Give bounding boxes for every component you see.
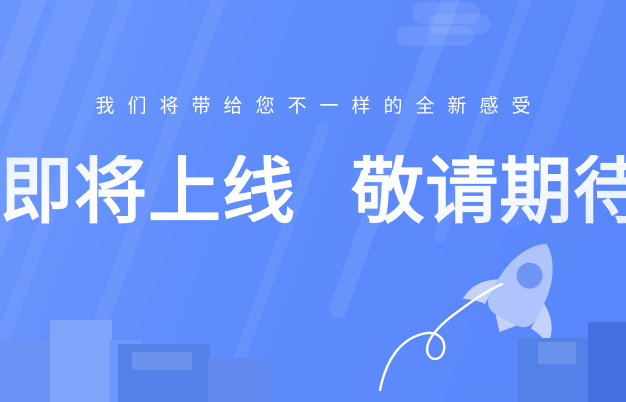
building-center-dark — [118, 344, 210, 402]
window-center — [132, 352, 192, 370]
building-left-tall — [50, 320, 112, 402]
coming-soon-banner: 我们将带给您不一样的全新感受 即将上线 敬请期待 — [0, 0, 626, 402]
building-far-left — [0, 340, 52, 402]
window-right — [538, 342, 576, 364]
building-center-mid — [208, 358, 270, 402]
headline-part-two: 敬请期待 — [351, 149, 626, 234]
rocket-icon — [455, 228, 585, 338]
building-far-right — [588, 322, 626, 402]
rocket-trail-curve — [378, 282, 508, 392]
headline-gap — [296, 149, 351, 234]
building-left-wide — [110, 340, 142, 402]
text-block: 我们将带给您不一样的全新感受 即将上线 敬请期待 — [0, 0, 626, 228]
banner-headline: 即将上线 敬请期待 — [0, 155, 626, 228]
banner-subtitle: 我们将带给您不一样的全新感受 — [0, 96, 626, 117]
building-right-block — [518, 338, 590, 402]
headline-part-one: 即将上线 — [0, 149, 296, 234]
